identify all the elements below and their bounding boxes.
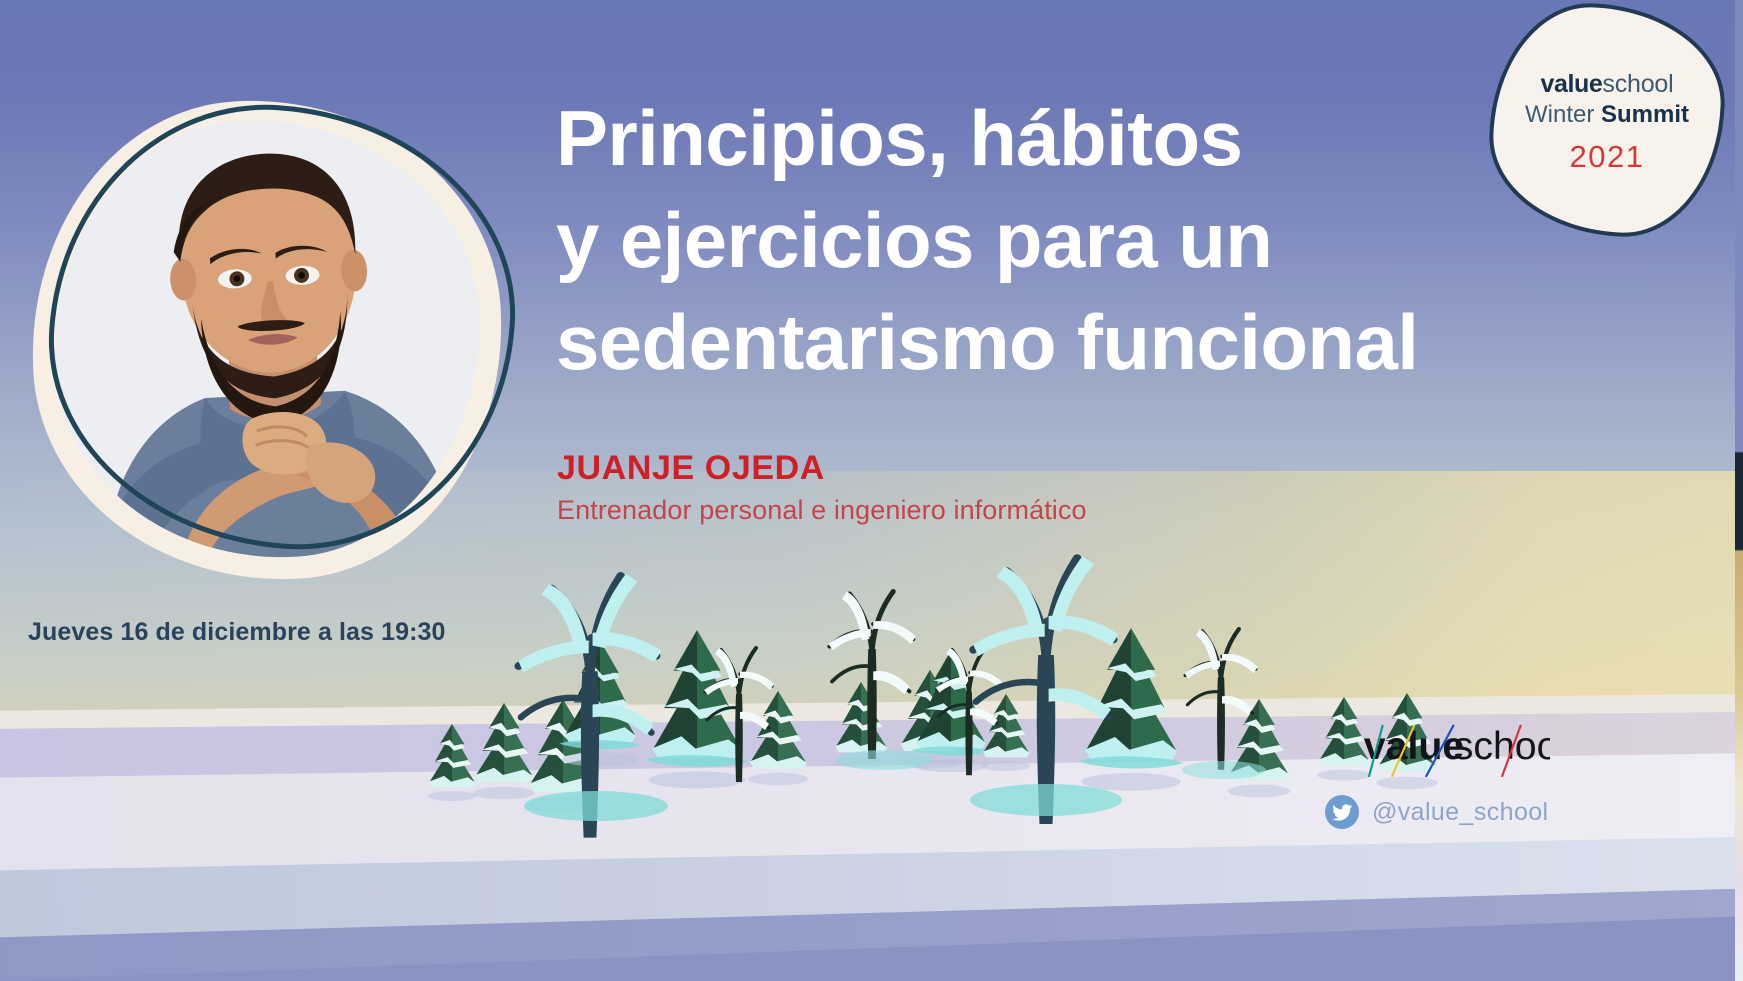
speaker-info: JUANJE OJEDA Entrenador personal e ingen… bbox=[557, 449, 1087, 526]
event-date: Jueves 16 de diciembre a las 19:30 bbox=[28, 618, 446, 647]
badge-event-light: Winter bbox=[1525, 101, 1594, 128]
title-line-1: Principios, hábitos bbox=[556, 88, 1536, 190]
twitter-icon bbox=[1325, 795, 1359, 829]
badge-brand-light: school bbox=[1602, 70, 1673, 98]
badge-year: 2021 bbox=[1570, 139, 1645, 175]
badge-content: valueschool Winter Summit 2021 bbox=[1490, 4, 1724, 236]
badge-event-bold: Summit bbox=[1601, 101, 1689, 128]
portrait-illustration bbox=[43, 109, 491, 569]
badge-brand-bold: value bbox=[1540, 70, 1602, 98]
poster-canvas: Principios, hábitos y ejercicios para un… bbox=[0, 0, 1743, 981]
right-edge-sliver bbox=[1735, 0, 1743, 981]
title-line-2: y ejercicios para un bbox=[556, 190, 1536, 292]
speaker-portrait bbox=[32, 100, 502, 580]
logo-bold-text: value bbox=[1364, 724, 1464, 768]
badge-event-row: Winter Summit bbox=[1525, 98, 1689, 133]
badge-brand-row: valueschool bbox=[1540, 71, 1673, 99]
twitter-handle-row[interactable]: @value_school bbox=[1325, 795, 1549, 829]
valueschool-logo: value school bbox=[1360, 718, 1550, 780]
winter-summit-badge: valueschool Winter Summit 2021 bbox=[1490, 4, 1724, 236]
page-title: Principios, hábitos y ejercicios para un… bbox=[556, 88, 1536, 393]
speaker-name: JUANJE OJEDA bbox=[557, 449, 1087, 488]
title-line-3: sedentarismo funcional bbox=[556, 292, 1536, 394]
logo-light-text: school bbox=[1454, 724, 1550, 768]
portrait-photo bbox=[43, 109, 491, 569]
twitter-handle-text: @value_school bbox=[1372, 798, 1549, 827]
speaker-role: Entrenador personal e ingeniero informát… bbox=[557, 495, 1087, 526]
